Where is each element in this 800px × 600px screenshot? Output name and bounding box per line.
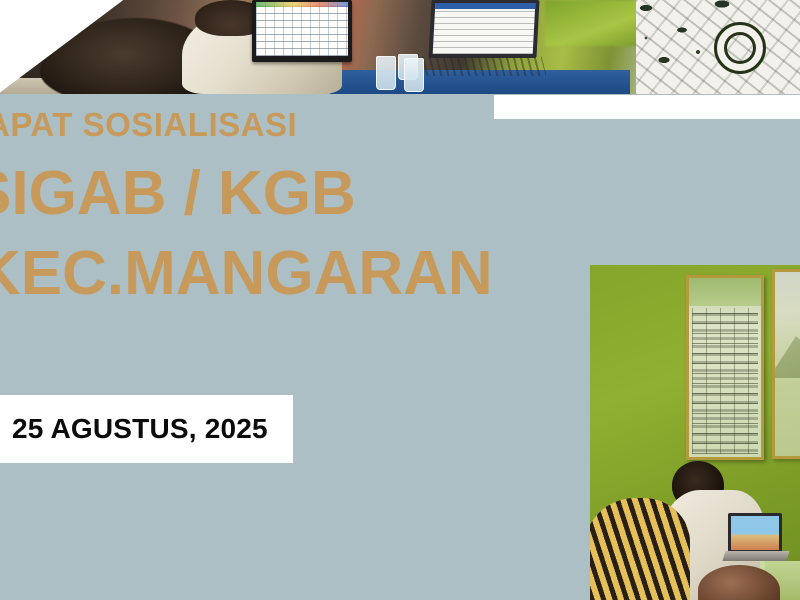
laptop-right-screen: [433, 3, 536, 54]
headline-group: APAT SOSIALISASI SIGAB / KGB KEC.MANGARA…: [0, 108, 560, 305]
office-laptop-screen: [731, 516, 779, 550]
laptop-right-keyboard: [422, 56, 547, 76]
date-badge: 25 AGUSTUS, 2025: [0, 395, 293, 463]
laptop-right-lid: [428, 0, 539, 58]
water-glass: [404, 58, 424, 92]
wall-notice-board: [686, 275, 764, 460]
notice-board-table: [692, 308, 758, 454]
headline-line-2: SIGAB / KGB: [0, 163, 560, 225]
top-photo: [0, 0, 800, 94]
headline-line-3: KEC.MANGARAN: [0, 243, 560, 305]
laptop-center-toolbar: [256, 2, 348, 7]
woman-in-striped-hijab: [590, 498, 690, 600]
laptop-center-screen: [256, 2, 348, 56]
top-photo-scene: [0, 0, 800, 94]
poster-canvas: APAT SOSIALISASI SIGAB / KGB KEC.MANGARA…: [0, 0, 800, 600]
office-laptop-lid: [728, 513, 782, 553]
batik-shirt-person: [636, 0, 800, 94]
laptop-in-office: [728, 513, 786, 567]
date-label: 25 AGUSTUS, 2025: [12, 413, 268, 445]
laptop-center: [252, 0, 352, 62]
bottom-right-photo: [590, 265, 800, 600]
office-laptop-keyboard: [722, 551, 789, 561]
notice-board-header: [689, 278, 761, 306]
wall-framed-poster: [772, 269, 800, 459]
headline-line-1: APAT SOSIALISASI: [0, 108, 560, 141]
water-glass: [376, 56, 396, 90]
laptop-right: [424, 0, 544, 78]
poster-landscape-graphic: [772, 318, 800, 378]
